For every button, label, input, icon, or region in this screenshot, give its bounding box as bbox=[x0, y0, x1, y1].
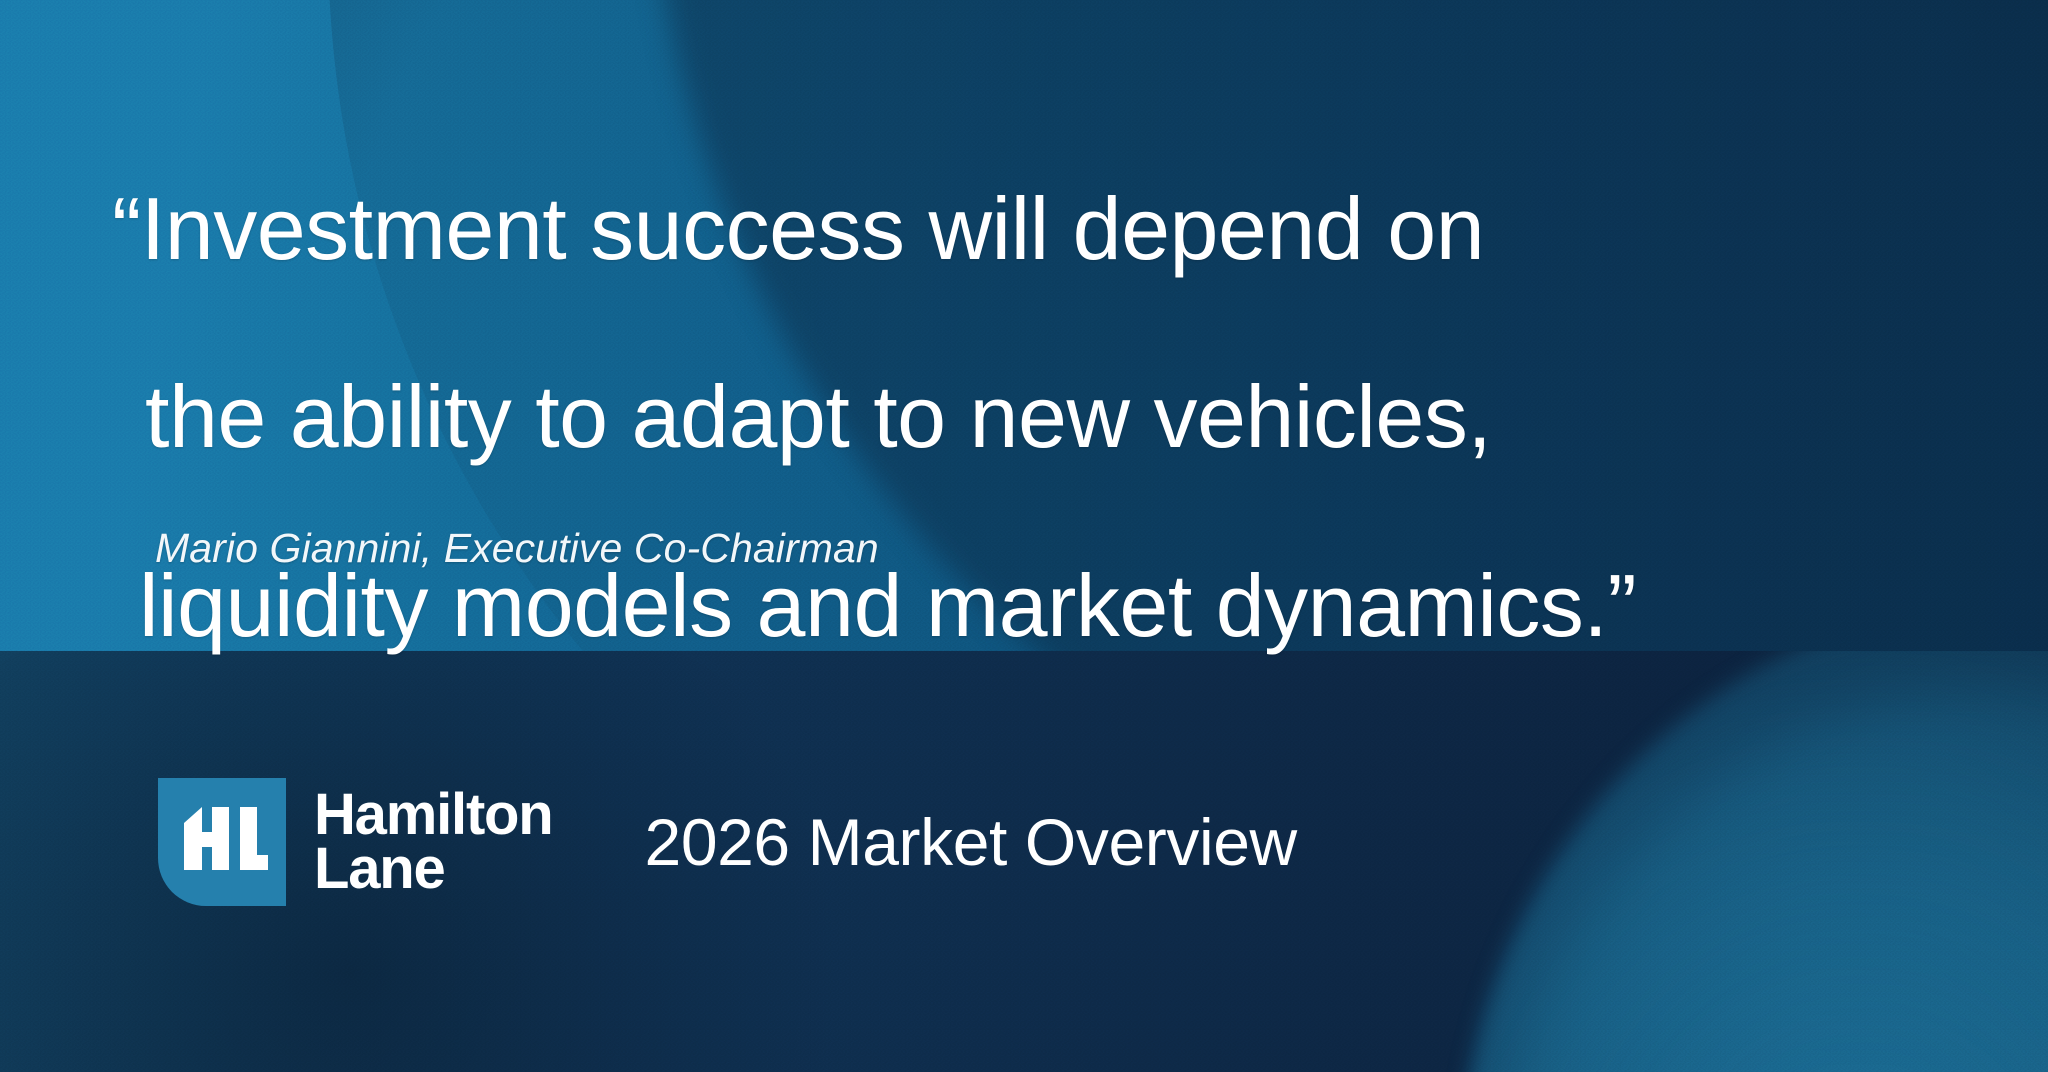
quote-text: “Investment success will depend on the a… bbox=[112, 88, 1972, 747]
quote-line-3: liquidity models and market dynamics.” bbox=[112, 559, 1972, 653]
hamilton-lane-hl-monogram-icon bbox=[158, 778, 286, 906]
quote-line-2: the ability to adapt to new vehicles, bbox=[112, 370, 1972, 464]
logo-word-line-1: Hamilton bbox=[314, 788, 553, 842]
hamilton-lane-wordmark: Hamilton Lane bbox=[314, 788, 553, 896]
quote-block: “Investment success will depend on the a… bbox=[112, 88, 1972, 747]
quote-attribution: Mario Giannini, Executive Co-Chairman bbox=[155, 525, 879, 572]
slide-canvas: “Investment success will depend on the a… bbox=[0, 0, 2048, 1072]
logo-word-line-2: Lane bbox=[314, 842, 553, 896]
slide-footer: Hamilton Lane 2026 Market Overview bbox=[158, 778, 1297, 906]
quote-line-1: “Investment success will depend on bbox=[112, 182, 1972, 276]
deck-title: 2026 Market Overview bbox=[645, 804, 1297, 880]
hamilton-lane-logo[interactable]: Hamilton Lane bbox=[158, 778, 553, 906]
